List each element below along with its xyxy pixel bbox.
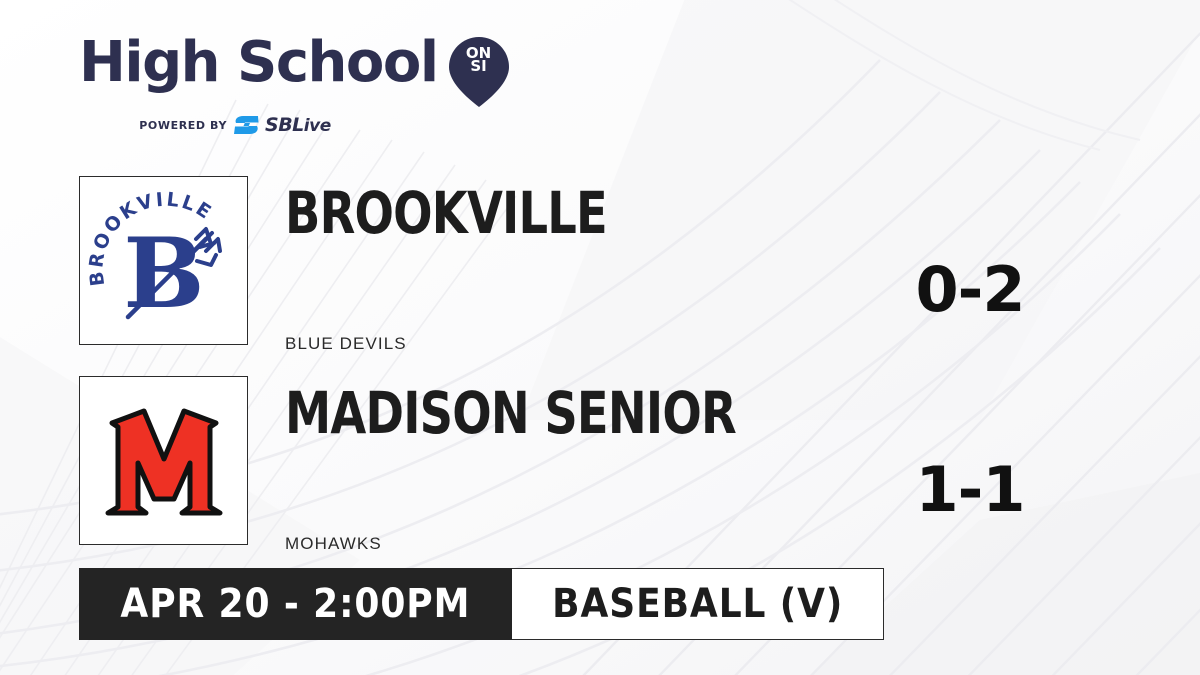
sblive-sbl: SBL	[265, 114, 304, 136]
game-sport-text: BASEBALL (V)	[552, 583, 843, 625]
game-datetime-text: APR 20 - 2:00PM	[120, 583, 470, 625]
sblive-ive: ive	[304, 116, 331, 136]
svg-text:B: B	[123, 217, 204, 330]
team-record-1: 0-2	[870, 259, 1070, 321]
sblive-s-mark-icon	[234, 115, 260, 135]
game-info-banner: APR 20 - 2:00PM BASEBALL (V)	[79, 568, 884, 640]
brookville-logo-art-icon: BROOKVILLE B	[80, 177, 247, 344]
madison-logo-art-icon	[80, 377, 247, 544]
sblive-wordmark: SBLive	[265, 114, 331, 136]
game-datetime-block: APR 20 - 2:00PM	[79, 568, 512, 640]
team-name-1: BROOKVILLE	[285, 182, 607, 244]
team-mascot-2: MOHAWKS	[285, 534, 382, 554]
team-row-2: MADISON SENIOR MOHAWKS	[79, 376, 779, 556]
pin-text: ON SI	[448, 47, 510, 73]
team-record-2: 1-1	[870, 459, 1070, 521]
team-name-2: MADISON SENIOR	[285, 382, 736, 444]
powered-by-row: POWERED BY SBLive	[85, 114, 385, 136]
brookville-blue-devils-logo: BROOKVILLE B	[79, 176, 248, 345]
brand-header: High School ON SI POWERED BY SBLive	[79, 34, 509, 134]
team-mascot-1: BLUE DEVILS	[285, 334, 407, 354]
pin-line-si: SI	[448, 60, 510, 73]
madison-senior-mohawks-logo	[79, 376, 248, 545]
team-row-1: BROOKVILLE B BROOKVILLE BLUE DEVIL	[79, 176, 779, 356]
game-sport-block: BASEBALL (V)	[512, 568, 884, 640]
powered-by-label: POWERED BY	[139, 119, 227, 132]
location-pin-icon: ON SI	[448, 36, 510, 108]
brand-title-row: High School ON SI	[79, 34, 509, 108]
page-title: High School	[79, 34, 438, 92]
matchup-graphic: High School ON SI POWERED BY SBLive	[0, 0, 1200, 675]
